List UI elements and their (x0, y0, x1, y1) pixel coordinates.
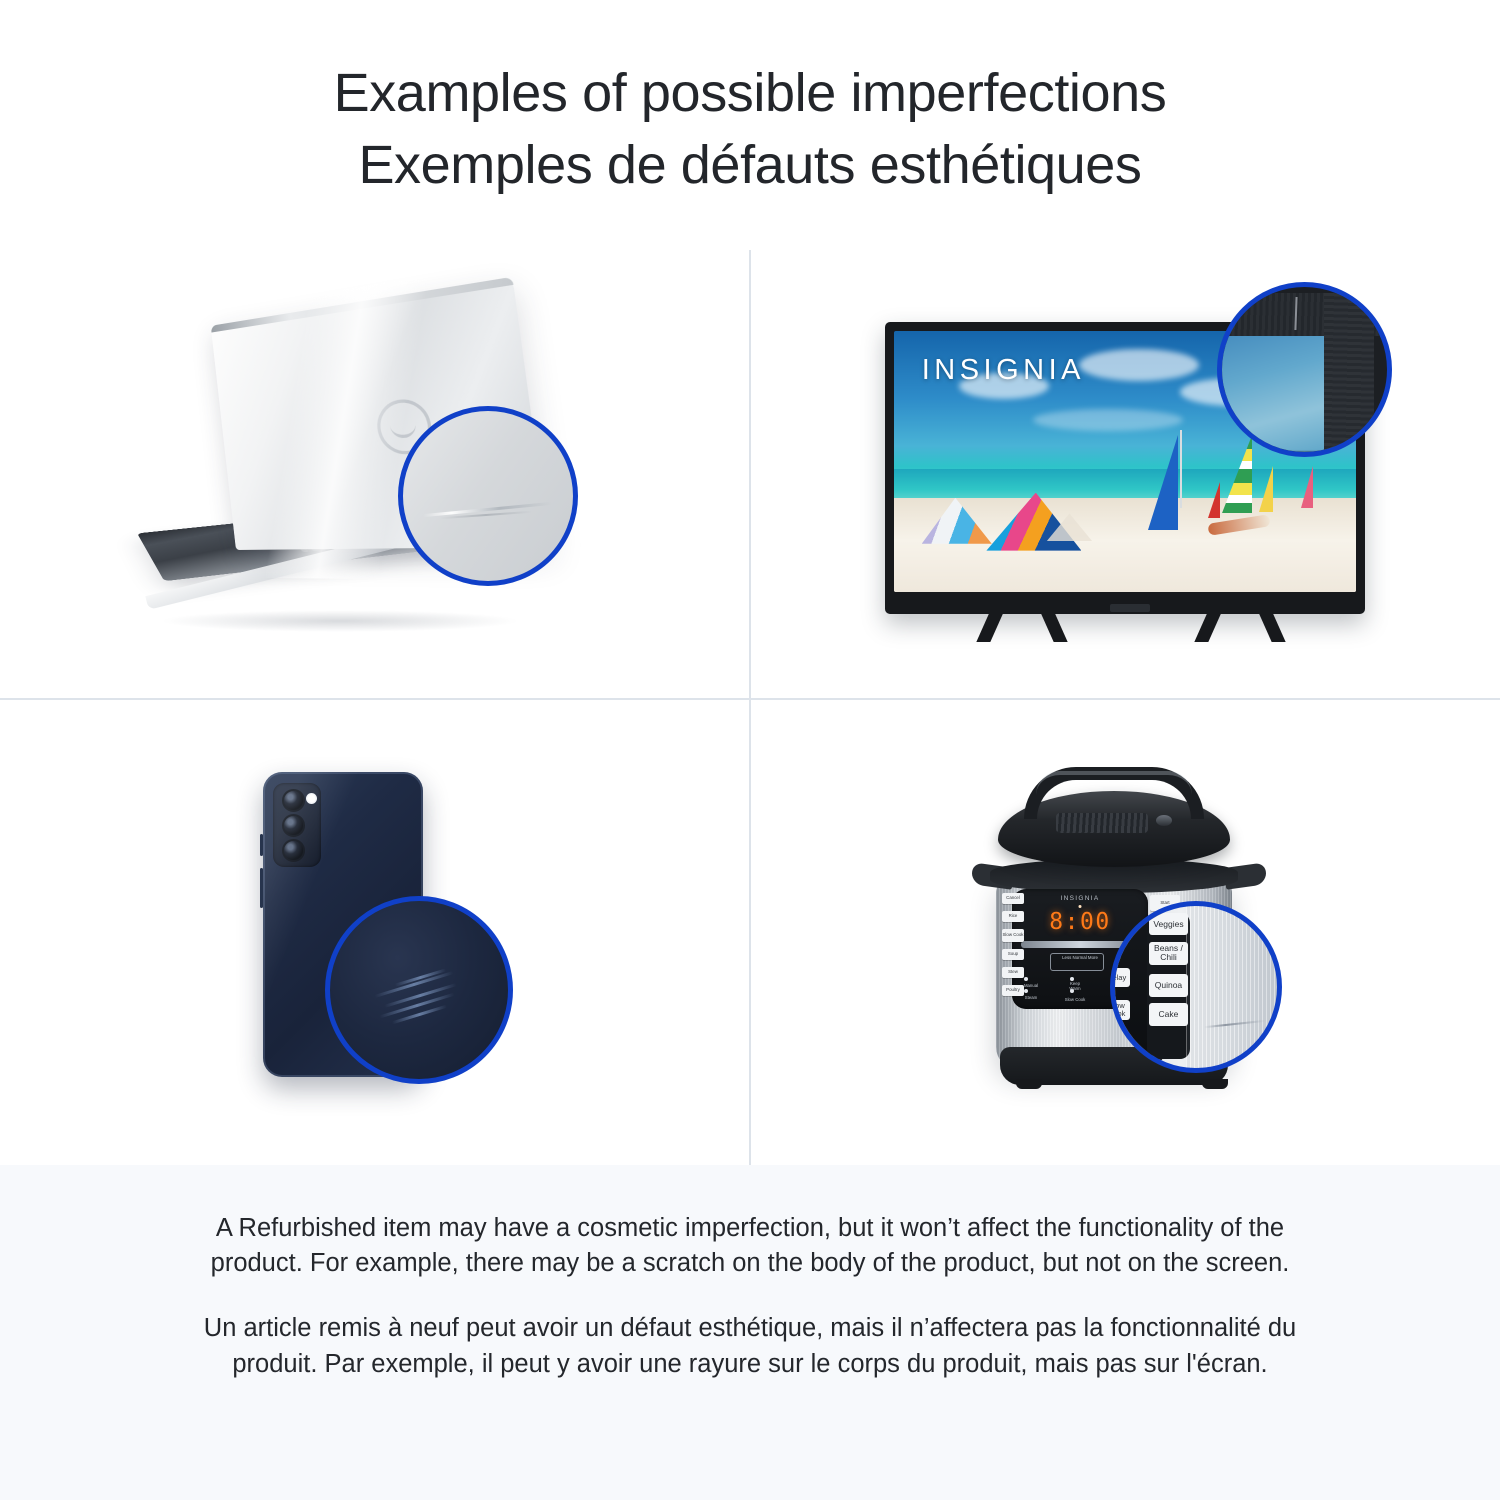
refurbished-imperfections-infographic: Examples of possible imperfections Exemp… (0, 0, 1500, 1500)
description-french: Un article remis à neuf peut avoir un dé… (185, 1311, 1315, 1381)
cooker-button-beans-chili-magnified[interactable]: Beans / Chili (1149, 942, 1188, 965)
smartphone-scratch-mark (374, 971, 453, 998)
cooker-brushed-texture-magnified (1186, 906, 1282, 1068)
cell-pressure-cooker: INSIGNIA 8:00 Less Normal More Manual St… (750, 708, 1500, 1166)
sailboat-yellow-sail (1259, 466, 1273, 512)
magnifier-circle-laptop (398, 406, 578, 586)
cooker-button-cake-magnified[interactable]: Cake (1149, 1003, 1188, 1026)
smartphone-volume-button (260, 834, 263, 856)
cooker-button-soup[interactable]: Soup (1002, 949, 1024, 960)
cooker-button-cancel[interactable]: Cancel (1002, 893, 1024, 904)
magnifier-circle-television (1217, 282, 1392, 457)
television-bezel-corner-magnified (1324, 293, 1374, 451)
cooker-indicator-led (1024, 977, 1028, 981)
sailboat-red-sail (1208, 482, 1220, 518)
cooker-foot (1202, 1079, 1228, 1089)
cooker-button-label[interactable]: Slow Cook (1058, 997, 1092, 1002)
cell-television: INSIGNIA (750, 250, 1500, 708)
cooker-brand-logo: INSIGNIA (1061, 895, 1100, 902)
cooker-button-quinoa-magnified[interactable]: Quinoa (1149, 974, 1188, 997)
cooker-button-poultry[interactable]: Poultry (1002, 985, 1024, 996)
smartphone-power-button (260, 868, 263, 908)
cell-smartphone (0, 708, 750, 1166)
sailboat-pink-sail (1301, 466, 1313, 508)
laptop-illustration (140, 314, 610, 644)
magnifier-circle-pressure-cooker: Veggies Beans / Chili Quinoa Cake Delay … (1110, 901, 1282, 1073)
cooker-button-stew[interactable]: Stew (1002, 967, 1024, 978)
sailboat-mast (1180, 430, 1182, 508)
television-screen-magnified (1217, 323, 1334, 452)
cooker-button-slow-cook[interactable]: Slow Cook (1002, 929, 1024, 942)
cooker-indicator-led (1024, 989, 1028, 993)
cooker-status-indicator (1079, 905, 1082, 908)
cloud-shape (1079, 349, 1199, 381)
description-english: A Refurbished item may have a cosmetic i… (185, 1211, 1315, 1281)
magnifier-circle-smartphone (325, 896, 513, 1084)
smartphone-illustration (225, 756, 525, 1116)
television-stand-leg (1258, 612, 1285, 642)
pressure-cooker-illustration: INSIGNIA 8:00 Less Normal More Manual St… (960, 761, 1290, 1111)
laptop-shadow (160, 610, 520, 632)
grid-divider-vertical (749, 250, 751, 1165)
television-stand-leg (976, 612, 1003, 642)
cooker-mode-label: Less Normal More (1055, 955, 1105, 961)
cooker-button-rice[interactable]: Rice (1002, 911, 1024, 922)
television-brand-logo: INSIGNIA (922, 354, 1085, 387)
television-illustration: INSIGNIA (865, 294, 1385, 664)
cooker-handle-highlight (1036, 771, 1192, 795)
cell-laptop (0, 250, 750, 708)
television-logo-badge (1110, 604, 1150, 612)
laptop-lid-edge (211, 277, 514, 333)
cloud-shape (1033, 409, 1183, 431)
cooker-button-veggies-magnified[interactable]: Veggies (1149, 913, 1188, 936)
sailboat-blue-sail (1148, 435, 1178, 530)
cooker-button-label[interactable]: KeepWarm (1058, 981, 1092, 991)
cooker-display-value[interactable]: 8:00 (1049, 909, 1110, 935)
header: Examples of possible imperfections Exemp… (0, 0, 1500, 250)
page-title-english: Examples of possible imperfections (334, 58, 1167, 130)
cooker-foot (1016, 1079, 1042, 1089)
television-stand-leg (1040, 612, 1067, 642)
product-examples-grid: INSIGNIA (0, 250, 1500, 1165)
page-title-french: Exemples de défauts esthétiques (358, 130, 1141, 202)
footer-description: A Refurbished item may have a cosmetic i… (0, 1165, 1500, 1500)
television-stand-leg (1194, 612, 1221, 642)
grid-divider-horizontal (0, 698, 1500, 700)
cooker-button-delay-magnified[interactable]: Delay (1110, 968, 1130, 987)
